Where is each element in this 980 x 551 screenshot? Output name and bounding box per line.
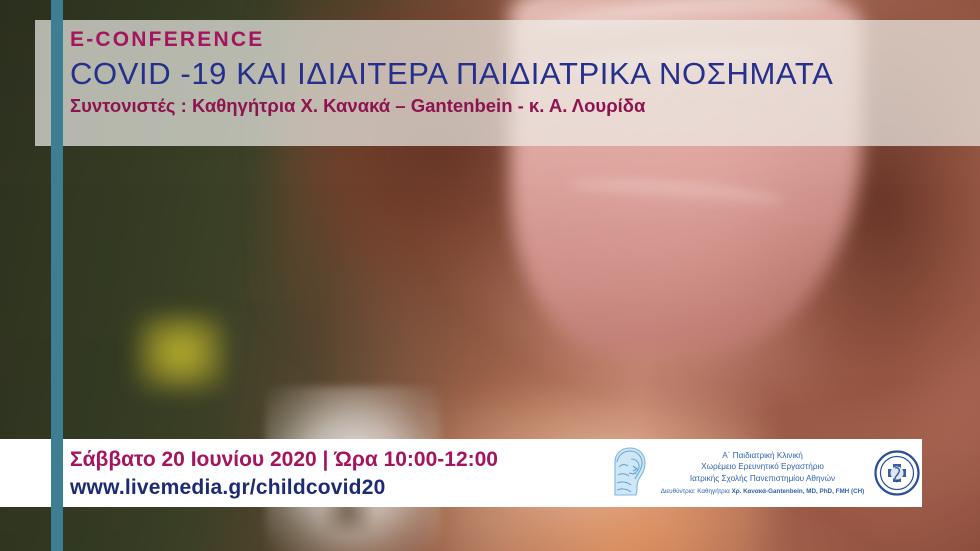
event-datetime: Σάββατο 20 Ιουνίου 2020 | Ώρα 10:00-12:0… <box>70 447 498 473</box>
medical-cross-seal-icon <box>874 450 920 496</box>
athena-head-icon <box>605 445 651 501</box>
director-name: Χρ. Κανακά-Gantenbein, MD, PhD, FMH (CH) <box>732 488 865 495</box>
clinic-name-block: Α΄ Παιδιατρική Κλινική Χωρέμειο Ερευνητι… <box>651 450 874 496</box>
clinic-director-line: Διευθύντρια: Καθηγήτρια Χρ. Κανακά-Gante… <box>655 487 870 496</box>
page-title: COVID -19 ΚΑΙ ΙΔΙΑΙΤΕΡΑ ΠΑΙΔΙΑΤΡΙΚΑ ΝΟΣΗ… <box>70 57 960 92</box>
logo-cluster: Α΄ Παιδιατρική Κλινική Χωρέμειο Ερευνητι… <box>605 443 920 503</box>
header-text-block: E-CONFERENCE COVID -19 ΚΑΙ ΙΔΙΑΙΤΕΡΑ ΠΑΙ… <box>70 28 960 117</box>
clinic-line-3: Ιατρικής Σχολής Πανεπιστημίου Αθηνών <box>655 473 870 485</box>
director-prefix: Διευθύντρια: Καθηγήτρια <box>661 488 732 495</box>
clinic-line-2: Χωρέμειο Ερευνητικό Εργαστήριο <box>655 461 870 473</box>
banner-text-block: Σάββατο 20 Ιουνίου 2020 | Ώρα 10:00-12:0… <box>70 447 498 502</box>
event-url[interactable]: www.livemedia.gr/childcovid20 <box>70 475 498 501</box>
moderators-line: Συντονιστές : Καθηγήτρια Χ. Κανακά – Gan… <box>70 95 960 117</box>
clinic-line-1: Α΄ Παιδιατρική Κλινική <box>655 450 870 462</box>
conference-poster: E-CONFERENCE COVID -19 ΚΑΙ ΙΔΙΑΙΤΕΡΑ ΠΑΙ… <box>0 0 980 551</box>
eyebrow-label: E-CONFERENCE <box>70 28 960 51</box>
vertical-accent-bar <box>51 0 63 551</box>
